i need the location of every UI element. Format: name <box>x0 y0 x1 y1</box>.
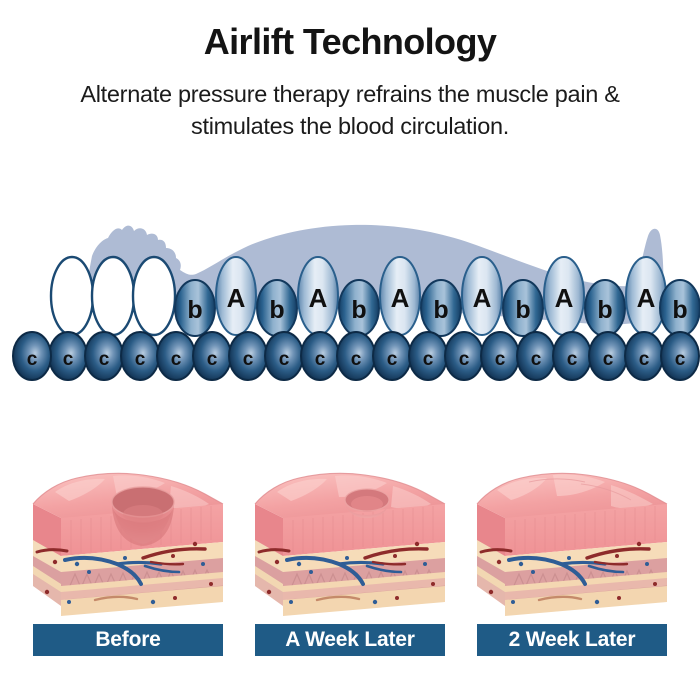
svg-text:c: c <box>351 349 362 370</box>
svg-text:c: c <box>171 349 182 370</box>
header: Airlift Technology Alternate pressure th… <box>0 0 700 142</box>
deflated-cell-b: b <box>585 280 625 336</box>
inflated-cell-a: A <box>298 257 338 335</box>
svg-text:c: c <box>423 349 434 370</box>
inflated-cell-a: A <box>380 257 420 335</box>
outline-cell <box>51 257 93 335</box>
base-cell-c: c <box>517 332 555 380</box>
svg-text:b: b <box>433 296 448 324</box>
mattress-base-row: c c c c c c c c c c c c c c c c c c c <box>13 332 699 380</box>
outline-cell <box>133 257 175 335</box>
page-subtitle: Alternate pressure therapy refrains the … <box>30 78 670 143</box>
inflated-cell-a: A <box>462 257 502 335</box>
page-title: Airlift Technology <box>0 22 700 62</box>
base-cell-c: c <box>337 332 375 380</box>
svg-text:b: b <box>672 296 687 324</box>
svg-text:c: c <box>531 349 542 370</box>
panel-label-before: Before <box>33 624 223 656</box>
skin-cross-section-before <box>25 452 231 620</box>
panel-label-2-week-later: 2 Week Later <box>477 624 667 656</box>
base-cell-c: c <box>49 332 87 380</box>
svg-text:c: c <box>387 349 398 370</box>
inflated-cell-a: A <box>626 257 666 335</box>
svg-text:A: A <box>309 283 328 313</box>
panel-before: Before <box>25 452 231 682</box>
base-cell-c: c <box>409 332 447 380</box>
deflated-cell-b: b <box>257 280 297 336</box>
deflated-cell-b: b <box>339 280 379 336</box>
svg-text:A: A <box>555 283 574 313</box>
svg-text:c: c <box>675 349 686 370</box>
svg-text:c: c <box>243 349 254 370</box>
base-cell-c: c <box>481 332 519 380</box>
panel-label-a-week-later: A Week Later <box>255 624 445 656</box>
inflated-cell-a: A <box>544 257 584 335</box>
deflated-cell-b: b <box>660 280 700 336</box>
deflated-cell-b: b <box>421 280 461 336</box>
svg-text:A: A <box>637 283 656 313</box>
deflated-cell-b: b <box>175 280 215 336</box>
svg-text:A: A <box>473 283 492 313</box>
skin-cross-section-2-week-later <box>469 452 675 620</box>
skin-cross-section-a-week-later <box>247 452 453 620</box>
svg-text:c: c <box>27 349 38 370</box>
panel-2-week-later: 2 Week Later <box>469 452 675 682</box>
base-cell-c: c <box>301 332 339 380</box>
base-cell-c: c <box>121 332 159 380</box>
svg-text:c: c <box>63 349 74 370</box>
base-cell-c: c <box>157 332 195 380</box>
base-cell-c: c <box>625 332 663 380</box>
base-cell-c: c <box>373 332 411 380</box>
healing-progress-panels: Before <box>0 452 700 682</box>
base-cell-c: c <box>445 332 483 380</box>
svg-text:c: c <box>99 349 110 370</box>
alternating-pressure-mattress-diagram: b A b A b A <box>0 190 700 395</box>
svg-text:b: b <box>351 296 366 324</box>
svg-text:c: c <box>495 349 506 370</box>
skin-front-layers <box>283 504 445 616</box>
svg-text:c: c <box>279 349 290 370</box>
panel-a-week-later: A Week Later <box>247 452 453 682</box>
base-cell-c: c <box>85 332 123 380</box>
svg-text:c: c <box>603 349 614 370</box>
svg-text:c: c <box>567 349 578 370</box>
outline-cell <box>92 257 134 335</box>
base-cell-c: c <box>229 332 267 380</box>
base-cell-c: c <box>589 332 627 380</box>
svg-text:A: A <box>391 283 410 313</box>
svg-text:b: b <box>597 296 612 324</box>
svg-text:A: A <box>227 283 246 313</box>
base-cell-c: c <box>661 332 699 380</box>
base-cell-c: c <box>13 332 51 380</box>
svg-text:b: b <box>269 296 284 324</box>
svg-text:b: b <box>187 296 202 324</box>
svg-text:c: c <box>459 349 470 370</box>
inflated-cell-a: A <box>216 257 256 335</box>
base-cell-c: c <box>265 332 303 380</box>
svg-text:c: c <box>639 349 650 370</box>
base-cell-c: c <box>193 332 231 380</box>
svg-text:b: b <box>515 296 530 324</box>
deflated-cell-b: b <box>503 280 543 336</box>
svg-text:c: c <box>135 349 146 370</box>
skin-front-layers <box>505 504 667 616</box>
base-cell-c: c <box>553 332 591 380</box>
svg-text:c: c <box>315 349 326 370</box>
svg-text:c: c <box>207 349 218 370</box>
